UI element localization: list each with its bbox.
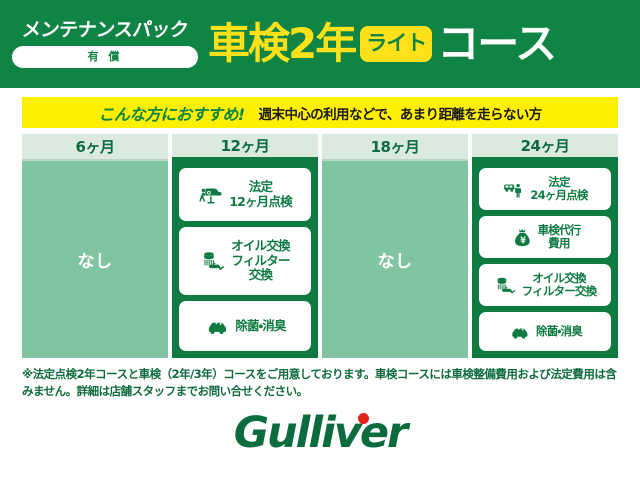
service-card-label: 除菌・消臭	[536, 325, 582, 338]
paid-badge: 有 償	[12, 46, 198, 68]
service-card: 法定 12ヶ月点検	[179, 168, 311, 221]
gulliver-wordmark: Gulliver	[234, 408, 407, 458]
column-header: 18ヶ月	[322, 134, 468, 161]
recommendation-description: 週末中心の利用などで、あまり距離を走らない方	[259, 103, 542, 123]
service-card-label: 車検代行 費用	[538, 224, 581, 250]
schedule-column-12m: 12ヶ月法定 12ヶ月点検オイル交換 フィルター 交換除菌・消臭	[172, 134, 318, 358]
service-card: 法定 24ヶ月点検	[479, 168, 611, 210]
no-service-label: なし	[78, 247, 113, 272]
oil-filter-and-oil-can-icon	[200, 248, 226, 274]
service-card-label: オイル交換 フィルター 交換	[231, 239, 290, 282]
column-header: 6ヶ月	[22, 134, 168, 161]
maintenance-pack-title-block: メンテナンスパック 有 償	[12, 21, 198, 68]
column-body: 法定 24ヶ月点検車検代行 費用オイル交換 フィルター交換除菌・消臭	[472, 161, 618, 358]
recommendation-headline: こんな方におすすめ!	[98, 101, 244, 125]
oil-filter-and-oil-can-icon	[494, 274, 517, 297]
service-card: 除菌・消臭	[479, 312, 611, 351]
service-card: オイル交換 フィルター交換	[479, 264, 611, 306]
column-body: なし	[22, 161, 168, 358]
gulliver-logo-text: Gulliver	[234, 412, 407, 455]
service-card-label: 法定 12ヶ月点検	[229, 180, 292, 209]
course-main-text: 車検2年	[208, 23, 355, 65]
brand-logo: Gulliver	[0, 412, 640, 455]
service-schedule-table: 6ヶ月なし12ヶ月法定 12ヶ月点検オイル交換 フィルター 交換除菌・消臭18ヶ…	[22, 134, 618, 358]
service-card: 除菌・消臭	[179, 301, 311, 351]
car-sparkle-icon	[204, 313, 230, 339]
footnote: ※法定点検2年コースと車検（2年/3年）コースをご用意しております。車検コースに…	[22, 366, 622, 401]
schedule-column-18m: 18ヶ月なし	[322, 134, 468, 358]
logo-red-dot-icon	[358, 413, 369, 424]
service-card: オイル交換 フィルター 交換	[179, 227, 311, 295]
car-inspection-person-icon	[502, 178, 525, 201]
schedule-column-24m: 24ヶ月法定 24ヶ月点検車検代行 費用オイル交換 フィルター交換除菌・消臭	[472, 134, 618, 358]
light-course-badge: ライト	[360, 26, 432, 62]
header: メンテナンスパック 有 償 車検2年 ライト コース	[0, 0, 640, 88]
schedule-column-6m: 6ヶ月なし	[22, 134, 168, 358]
column-header: 24ヶ月	[472, 134, 618, 161]
recommendation-banner: こんな方におすすめ! 週末中心の利用などで、あまり距離を走らない方	[22, 97, 618, 128]
column-header: 12ヶ月	[172, 134, 318, 161]
maintenance-pack-title: メンテナンスパック	[21, 21, 189, 40]
course-title-block: 車検2年 ライト コース	[208, 23, 628, 65]
service-card-label: 除菌・消臭	[235, 319, 285, 333]
service-card-label: オイル交換 フィルター交換	[522, 272, 597, 298]
no-service-label: なし	[378, 247, 413, 272]
service-card-label: 法定 24ヶ月点検	[530, 176, 587, 202]
money-bag-yen-icon	[510, 226, 533, 249]
car-on-lift-icon	[198, 182, 224, 208]
service-card: 車検代行 費用	[479, 216, 611, 258]
maintenance-pack-banner: メンテナンスパック 有 償 車検2年 ライト コース こんな方におすすめ! 週末…	[0, 0, 640, 480]
column-body: なし	[322, 161, 468, 358]
course-suffix-text: コース	[437, 23, 555, 65]
car-sparkle-icon	[508, 320, 531, 343]
column-body: 法定 12ヶ月点検オイル交換 フィルター 交換除菌・消臭	[172, 161, 318, 358]
